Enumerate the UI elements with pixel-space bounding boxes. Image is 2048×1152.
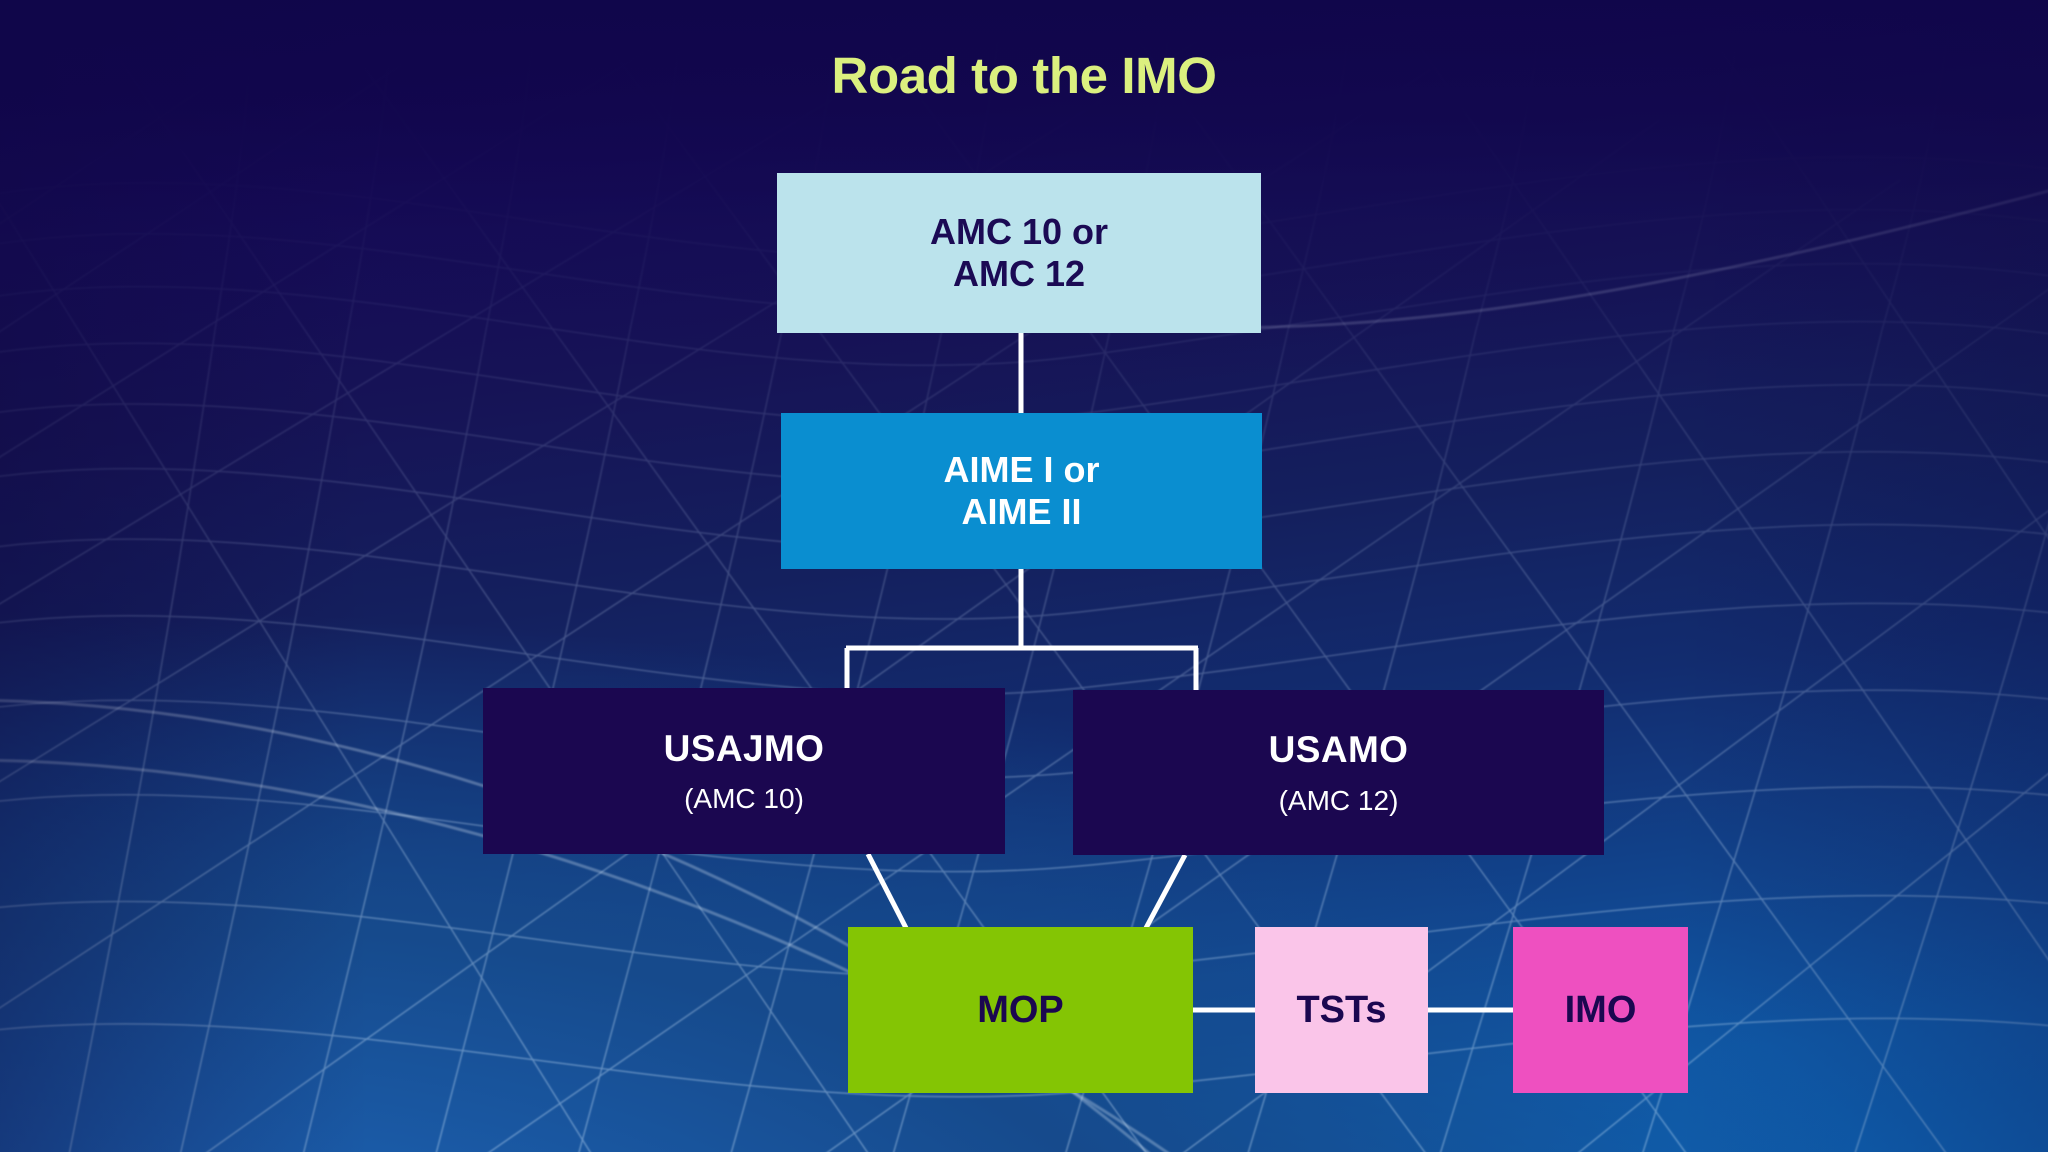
edge-usajmo-to-mop (868, 854, 906, 928)
node-usamo[interactable]: USAMO (AMC 12) (1073, 690, 1604, 855)
node-imo[interactable]: IMO (1513, 927, 1688, 1093)
node-amc-line1: AMC 10 or (930, 211, 1108, 253)
slide-canvas: Road to the IMO AMC 10 or AMC 12 AIME I … (0, 0, 2048, 1152)
node-usamo-label: USAMO (1269, 728, 1409, 772)
node-tsts[interactable]: TSTs (1255, 927, 1428, 1093)
node-imo-label: IMO (1565, 988, 1637, 1033)
node-mop[interactable]: MOP (848, 927, 1193, 1093)
node-usajmo[interactable]: USAJMO (AMC 10) (483, 688, 1005, 854)
node-amc[interactable]: AMC 10 or AMC 12 (777, 173, 1261, 333)
node-usamo-sublabel: (AMC 12) (1279, 784, 1399, 817)
node-usajmo-sublabel: (AMC 10) (684, 782, 804, 815)
node-amc-line2: AMC 12 (953, 253, 1085, 295)
node-aime-line1: AIME I or (943, 449, 1099, 491)
page-title: Road to the IMO (0, 46, 2048, 105)
node-aime[interactable]: AIME I or AIME II (781, 413, 1262, 569)
node-tsts-label: TSTs (1296, 988, 1386, 1033)
node-mop-label: MOP (977, 988, 1064, 1033)
edge-usamo-to-mop (1146, 855, 1185, 928)
node-usajmo-label: USAJMO (664, 727, 825, 771)
node-aime-line2: AIME II (961, 491, 1081, 533)
